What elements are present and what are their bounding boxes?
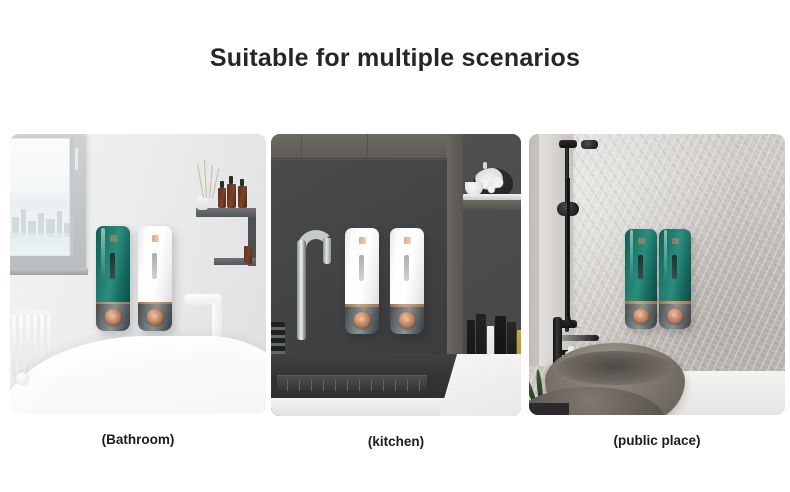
dispenser-base: [138, 302, 172, 331]
basin-bowl: [557, 351, 673, 385]
dispenser-body: [345, 228, 379, 304]
shower-rail-bracket-top: [559, 140, 577, 148]
dispenser-logo: [672, 238, 679, 244]
dispenser-trim-ring: [138, 302, 172, 305]
dispenser-logo: [638, 238, 645, 244]
kitchen-photo: [271, 134, 521, 416]
dispenser-trim-ring: [96, 302, 130, 305]
bathtub-knob: [16, 372, 29, 385]
dispenser-highlight: [395, 230, 398, 283]
dispenser-trim-ring: [390, 304, 424, 307]
amber-bottle: [218, 188, 226, 208]
bathtub-inner: [22, 350, 266, 414]
amber-bottle-cap: [220, 181, 224, 188]
foreground-shadow: [529, 403, 569, 415]
soap-dispenser-white-right[interactable]: [390, 228, 424, 334]
caption-kitchen: (kitchen): [271, 434, 521, 449]
city-skyline: [10, 195, 69, 237]
dispenser-level-window: [359, 255, 363, 281]
counter-right-surface: [439, 354, 521, 416]
dispenser-logo: [404, 237, 411, 244]
dispenser-base: [345, 304, 379, 334]
scenario-image-public-place[interactable]: [529, 134, 785, 415]
caption-bathroom: (Bathroom): [10, 432, 266, 447]
dispenser-base: [390, 304, 424, 334]
dispenser-trim-ring: [625, 301, 657, 304]
faucet-body[interactable]: [297, 240, 306, 340]
window-sill: [10, 268, 88, 275]
amber-bottle-cap: [229, 176, 233, 184]
soap-dispenser-white-left[interactable]: [345, 228, 379, 334]
soap-dispenser-green[interactable]: [96, 226, 130, 331]
dispenser-level-window: [152, 253, 156, 279]
dispenser-trim-ring: [345, 304, 379, 307]
shower-hose: [567, 178, 592, 328]
caption-public-place: (public place): [529, 433, 785, 448]
dispenser-push-button[interactable]: [633, 308, 649, 324]
amber-bottle: [238, 186, 247, 208]
dispenser-logo: [152, 235, 159, 242]
soap-dispenser-green-right[interactable]: [659, 229, 691, 329]
scenario-gallery: (Bathroom) (kitchen) (public place): [0, 134, 790, 454]
mixer-handle[interactable]: [559, 335, 599, 341]
dispenser-body: [138, 226, 172, 302]
scenario-image-kitchen[interactable]: [271, 134, 521, 416]
dispenser-highlight: [630, 230, 633, 280]
teapot-lid: [483, 162, 487, 169]
dispenser-body: [390, 228, 424, 304]
window-haze: [10, 233, 69, 255]
page-title: Suitable for multiple scenarios: [0, 44, 790, 73]
dispenser-highlight: [664, 230, 667, 280]
sink-grate: [277, 375, 427, 394]
faucet-outlet: [323, 238, 331, 264]
dispenser-push-button[interactable]: [354, 312, 371, 329]
soap-dispenser-green-left[interactable]: [625, 229, 657, 329]
bathroom-photo: [10, 134, 266, 414]
dispenser-push-button[interactable]: [399, 312, 416, 329]
public-place-photo: [529, 134, 785, 415]
dispenser-base: [96, 302, 130, 331]
dispenser-highlight: [101, 228, 104, 281]
soap-dispenser-white[interactable]: [138, 226, 172, 331]
amber-bottle-cap: [240, 179, 244, 186]
dispenser-highlight: [143, 228, 146, 281]
dispenser-base: [625, 301, 657, 329]
scenario-image-bathroom[interactable]: [10, 134, 266, 414]
dispenser-highlight: [350, 230, 353, 283]
amber-bottle: [227, 184, 236, 208]
dispenser-logo: [110, 235, 117, 242]
dispenser-level-window: [404, 255, 408, 281]
dispenser-base: [659, 301, 691, 329]
amber-bottle: [244, 246, 252, 264]
dispenser-body: [96, 226, 130, 302]
dispenser-logo: [359, 237, 366, 244]
window-glass: [10, 138, 70, 256]
dispenser-push-button[interactable]: [147, 309, 164, 326]
window-frame: [10, 134, 86, 270]
dispenser-level-window: [638, 255, 642, 279]
dispenser-trim-ring: [659, 301, 691, 304]
dispenser-push-button[interactable]: [667, 308, 683, 324]
window-mullion: [70, 138, 73, 256]
upper-cabinets: [271, 134, 447, 159]
dispenser-level-window: [110, 253, 114, 279]
dispenser-body: [625, 229, 657, 301]
kitchen-counter: [271, 354, 521, 416]
dispenser-body: [659, 229, 691, 301]
dispenser-push-button[interactable]: [105, 309, 122, 326]
dispenser-level-window: [672, 255, 676, 279]
shelf-board: [463, 200, 521, 210]
window-handle: [75, 148, 78, 170]
